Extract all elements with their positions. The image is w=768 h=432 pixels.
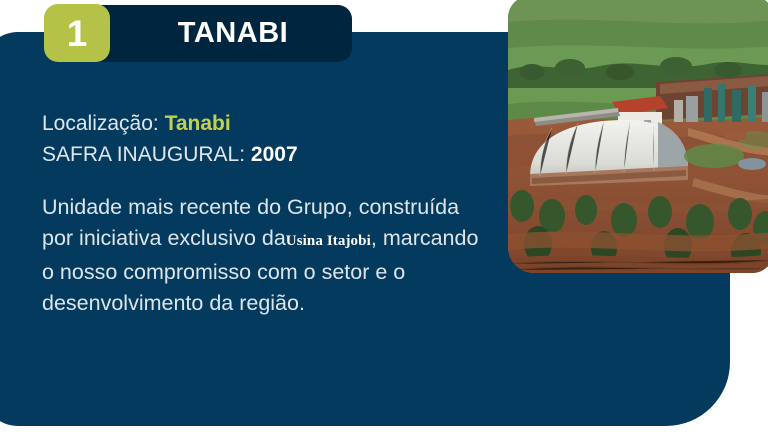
card-body: Localização: Tanabi SAFRA INAUGURAL: 200… — [42, 108, 482, 319]
description-paragraph: Unidade mais recente do Grupo, construíd… — [42, 192, 482, 319]
page-title: TANABI — [178, 19, 288, 48]
brand-name-inline: Usina Itajobi — [286, 233, 371, 249]
step-number-badge: 1 — [44, 4, 110, 62]
location-row: Localização: Tanabi — [42, 108, 482, 139]
location-value: Tanabi — [165, 112, 231, 135]
harvest-row: SAFRA INAUGURAL: 2007 — [42, 139, 482, 170]
harvest-label: SAFRA INAUGURAL: — [42, 143, 245, 166]
harvest-value: 2007 — [251, 143, 298, 166]
facility-photo-illustration — [508, 0, 768, 273]
facility-photo — [508, 0, 768, 273]
step-number-text: 1 — [67, 15, 88, 52]
location-label: Localização: — [42, 112, 159, 135]
